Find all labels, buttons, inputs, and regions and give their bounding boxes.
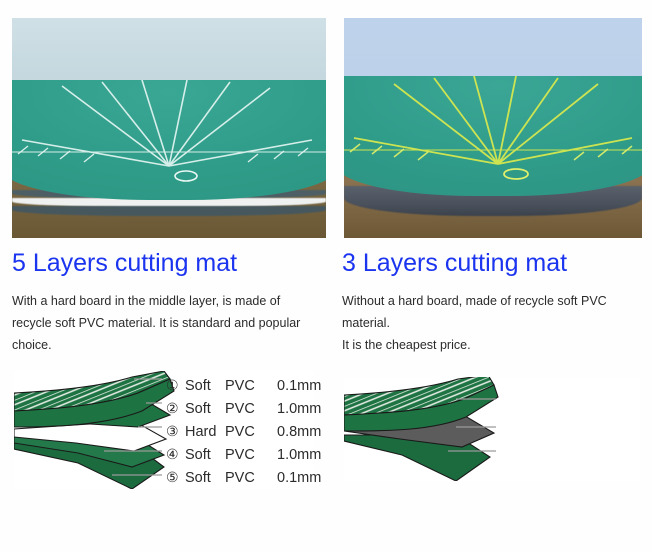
page-title-five-layer: 5 Layers cutting mat (12, 248, 328, 278)
layer-hardness: Soft (185, 447, 225, 463)
mat-ruler-markings (12, 80, 326, 200)
mat-ruler-markings (344, 76, 642, 196)
layer-hardness: Soft (185, 401, 225, 417)
layer-number: ⑤ (166, 469, 185, 486)
list-item: ① Soft PVC 0.1mm (166, 374, 339, 397)
list-item: ④ Soft PVC 1.0mm (166, 443, 339, 466)
list-item: ② Soft PVC 1.0mm (166, 397, 339, 420)
three-layer-column: 3 Layers cutting mat Without a hard boar… (342, 248, 642, 356)
layer-thickness: 1.0mm (277, 401, 339, 417)
product-comparison-page: 5 Layers cutting mat With a hard board i… (0, 0, 652, 552)
description-line: Without a hard board, made of recycle so… (342, 290, 642, 334)
layer-material: PVC (225, 424, 277, 440)
five-layer-spec-list: ① Soft PVC 0.1mm ② Soft PVC 1.0mm ③ Hard… (166, 374, 339, 489)
layer-thickness: 0.8mm (277, 424, 339, 440)
layer-number: ③ (166, 423, 185, 440)
layer-material: PVC (225, 401, 277, 417)
description-line: recycle soft PVC material. It is standar… (12, 312, 328, 356)
list-item: ⑤ Soft PVC 0.1mm (166, 466, 339, 489)
layer-number: ④ (166, 446, 185, 463)
five-layer-mat-photo (12, 18, 326, 238)
mat-edge-layer-3 (12, 206, 326, 216)
mat-surface (12, 80, 326, 200)
description-line: With a hard board in the middle layer, i… (12, 290, 328, 312)
layer-number: ② (166, 400, 185, 417)
layer-number: ① (166, 377, 185, 394)
mat-surface (344, 76, 642, 196)
layer-hardness: Soft (185, 378, 225, 394)
five-layer-diagram: ① Soft PVC 0.1mm ② Soft PVC 1.0mm ③ Hard… (14, 371, 314, 489)
layer-material: PVC (225, 470, 277, 486)
layer-hardness: Soft (185, 470, 225, 486)
three-layer-illustration (344, 377, 640, 481)
three-layer-mat-photo (344, 18, 642, 238)
five-layer-column: 5 Layers cutting mat With a hard board i… (12, 248, 328, 356)
layer-hardness: Hard (185, 424, 225, 440)
page-title-three-layer: 3 Layers cutting mat (342, 248, 642, 278)
layer-material: PVC (225, 447, 277, 463)
three-layer-diagram: ① Soft PVC 0.1mm ② Soft PVC 2.8mm ③ Soft… (344, 377, 640, 481)
layer-thickness: 0.1mm (277, 470, 339, 486)
layer-thickness: 0.1mm (277, 378, 339, 394)
layer-material: PVC (225, 378, 277, 394)
photo-row (0, 0, 652, 240)
list-item: ③ Hard PVC 0.8mm (166, 420, 339, 443)
description-line: It is the cheapest price. (342, 334, 642, 356)
layer-thickness: 1.0mm (277, 447, 339, 463)
